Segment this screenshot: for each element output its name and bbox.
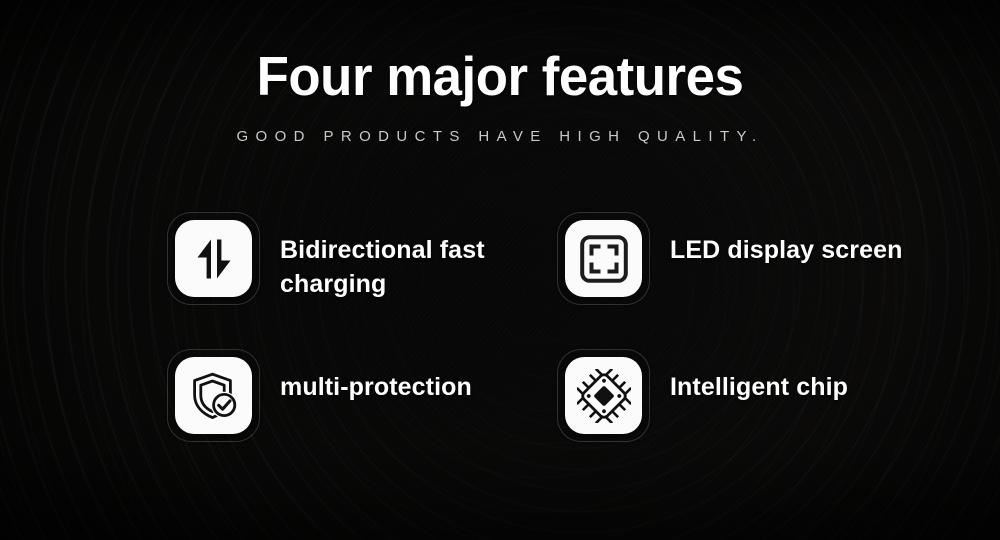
chip-icon [577, 369, 631, 423]
icon-tile-frame [167, 349, 260, 442]
page-title: Four major features [20, 48, 980, 106]
led-display-icon [579, 234, 629, 284]
shield-check-icon [188, 370, 240, 422]
feature-item-bidirectional-charging[interactable]: Bidirectional fast charging [167, 212, 557, 349]
feature-label: Bidirectional fast charging [280, 233, 530, 301]
header: Four major features GOOD PRODUCTS HAVE H… [0, 48, 1000, 145]
icon-tile [175, 220, 252, 297]
feature-label: LED display screen [670, 233, 902, 267]
icon-tile-frame [557, 349, 650, 442]
feature-grid: Bidirectional fast charging [167, 212, 927, 486]
icon-tile [175, 357, 252, 434]
feature-banner: Four major features GOOD PRODUCTS HAVE H… [0, 0, 1000, 540]
icon-tile-frame [557, 212, 650, 305]
bidirectional-charging-icon [190, 235, 238, 283]
feature-item-multi-protection[interactable]: multi-protection [167, 349, 557, 486]
icon-tile-frame [167, 212, 260, 305]
feature-label: Intelligent chip [670, 370, 848, 404]
icon-tile [565, 357, 642, 434]
page-subtitle: GOOD PRODUCTS HAVE HIGH QUALITY. [0, 128, 1000, 145]
feature-item-intelligent-chip[interactable]: Intelligent chip [557, 349, 947, 486]
feature-label: multi-protection [280, 370, 472, 404]
icon-tile [565, 220, 642, 297]
feature-item-led-display[interactable]: LED display screen [557, 212, 947, 349]
